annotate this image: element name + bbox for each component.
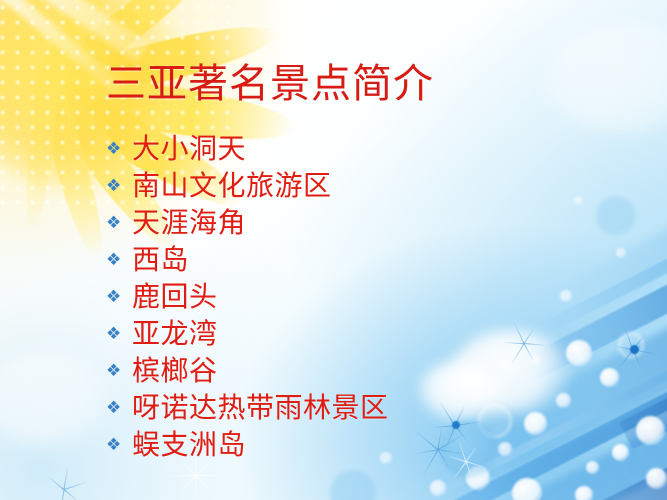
list-item[interactable]: ❖ 呀诺达热带雨林景区	[104, 390, 389, 427]
diamond-cluster-bullet-icon: ❖	[104, 400, 132, 417]
page-title: 三亚著名景点简介	[106, 62, 434, 107]
list-item-label: 天涯海角	[132, 210, 246, 238]
list-item[interactable]: ❖ 天涯海角	[104, 205, 389, 242]
list-item-label: 槟榔谷	[132, 358, 218, 386]
list-item[interactable]: ❖ 南山文化旅游区	[104, 168, 389, 205]
list-item-label: 大小洞天	[132, 136, 246, 164]
list-item-label: 南山文化旅游区	[132, 173, 332, 201]
list-item-label: 蜈支洲岛	[132, 432, 246, 460]
diamond-cluster-bullet-icon: ❖	[104, 326, 132, 343]
list-item[interactable]: ❖ 蜈支洲岛	[104, 427, 389, 464]
diamond-cluster-bullet-icon: ❖	[104, 252, 132, 269]
list-item[interactable]: ❖ 鹿回头	[104, 279, 389, 316]
list-item-label: 鹿回头	[132, 284, 218, 312]
list-item-label: 亚龙湾	[132, 321, 218, 349]
list-item[interactable]: ❖ 大小洞天	[104, 131, 389, 168]
list-item[interactable]: ❖ 亚龙湾	[104, 316, 389, 353]
diamond-cluster-bullet-icon: ❖	[104, 437, 132, 454]
diamond-cluster-bullet-icon: ❖	[104, 363, 132, 380]
list-item[interactable]: ❖ 槟榔谷	[104, 353, 389, 390]
presentation-slide: 三亚著名景点简介 ❖ 大小洞天 ❖ 南山文化旅游区 ❖ 天涯海角 ❖ 西岛 ❖ …	[0, 0, 667, 500]
slide-content: 三亚著名景点简介 ❖ 大小洞天 ❖ 南山文化旅游区 ❖ 天涯海角 ❖ 西岛 ❖ …	[0, 0, 667, 500]
diamond-cluster-bullet-icon: ❖	[104, 215, 132, 232]
diamond-cluster-bullet-icon: ❖	[104, 141, 132, 158]
list-item-label: 呀诺达热带雨林景区	[132, 395, 389, 423]
diamond-cluster-bullet-icon: ❖	[104, 178, 132, 195]
list-item-label: 西岛	[132, 247, 189, 275]
attraction-list: ❖ 大小洞天 ❖ 南山文化旅游区 ❖ 天涯海角 ❖ 西岛 ❖ 鹿回头 ❖ 亚龙湾	[104, 131, 389, 464]
diamond-cluster-bullet-icon: ❖	[104, 289, 132, 306]
list-item[interactable]: ❖ 西岛	[104, 242, 389, 279]
